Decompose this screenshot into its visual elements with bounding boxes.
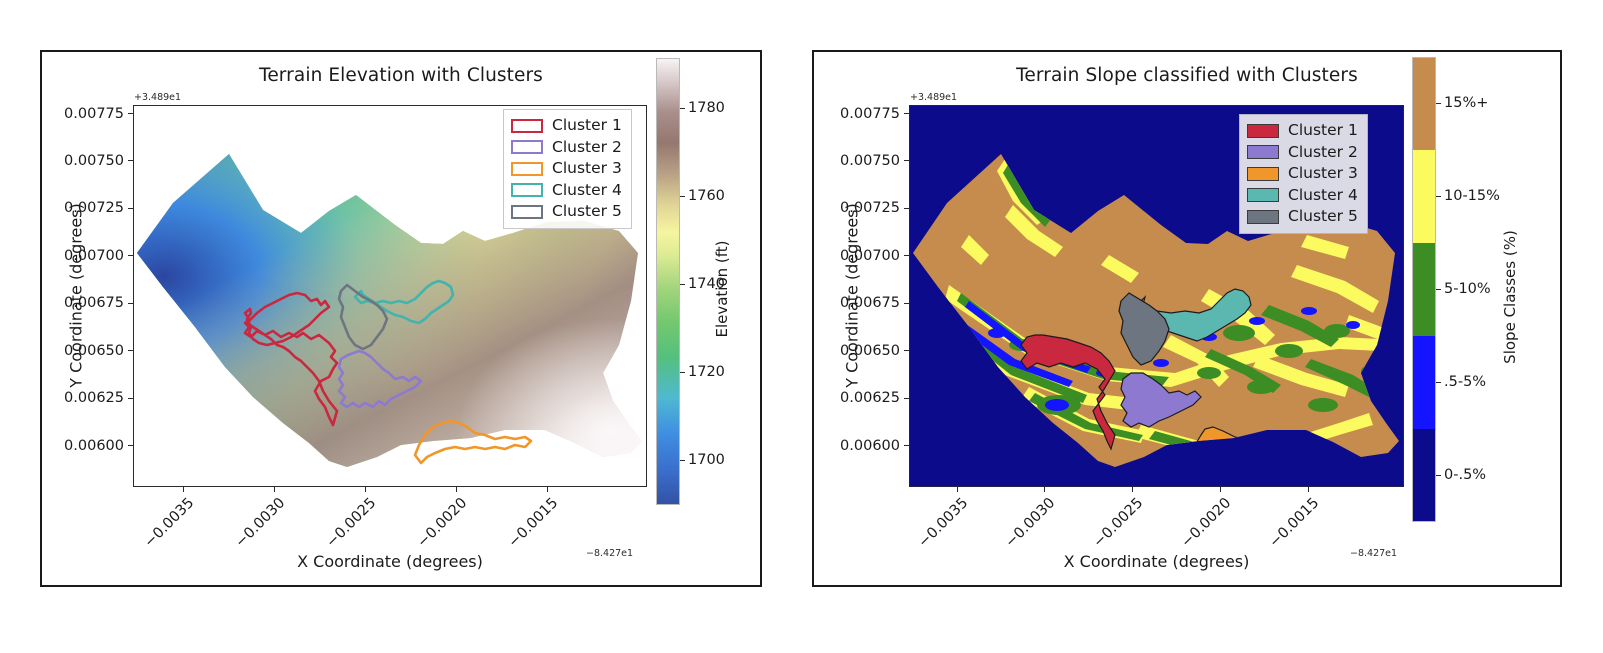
legend-item-cluster-5[interactable]: Cluster 5 [1247,206,1358,228]
x-axis-offset-text-right: −8.427e1 [1350,548,1397,559]
colorbar-slope[interactable] [1412,57,1436,522]
legend-clusters-elevation[interactable]: Cluster 1 Cluster 2 Cluster 3 Cluster 4 … [503,109,632,229]
legend-item-cluster-2[interactable]: Cluster 2 [1247,142,1358,164]
cluster-4-swatch-icon [1247,188,1279,202]
cluster-2-swatch-icon [511,140,543,154]
legend-item-cluster-1[interactable]: Cluster 1 [1247,120,1358,142]
legend-label: Cluster 1 [1288,123,1358,139]
legend-label: Cluster 3 [1288,166,1358,182]
cluster-2-swatch-icon [1247,145,1279,159]
colorbar-elevation[interactable] [656,58,680,505]
colorbar-border [656,58,680,505]
y-axis-label: Y Coordinate (degrees) [67,166,86,426]
legend-label: Cluster 2 [552,140,622,156]
figure-panel-left: Terrain Elevation with Clusters +3.489e1 [40,50,762,587]
y-axis-offset-text: +3.489e1 [134,92,181,103]
legend-item-cluster-2[interactable]: Cluster 2 [511,137,622,159]
page-title-right: Terrain Slope classified with Clusters [814,65,1560,86]
colorbar-border-right [1412,57,1436,522]
colorbar-label-elevation: Elevation (ft) [713,204,731,374]
legend-item-cluster-3[interactable]: Cluster 3 [511,158,622,180]
legend-label: Cluster 3 [552,161,622,177]
cluster-4-swatch-icon [511,183,543,197]
figure-panel-right: Terrain Slope classified with Clusters +… [812,50,1562,587]
page-title: Terrain Elevation with Clusters [42,65,760,86]
y-axis-label-right: Y Coordinate (degrees) [843,166,862,426]
legend-label: Cluster 4 [552,183,622,199]
cluster-3-swatch-icon [511,162,543,176]
legend-clusters-slope[interactable]: Cluster 1 Cluster 2 Cluster 3 Cluster 4 … [1239,114,1368,234]
legend-label: Cluster 5 [1288,209,1358,225]
legend-item-cluster-3[interactable]: Cluster 3 [1247,163,1358,185]
legend-label: Cluster 2 [1288,145,1358,161]
legend-label: Cluster 5 [552,204,622,220]
cluster-1-swatch-icon [511,119,543,133]
legend-label: Cluster 4 [1288,188,1358,204]
legend-item-cluster-4[interactable]: Cluster 4 [511,180,622,202]
cluster-5-swatch-icon [1247,210,1279,224]
colorbar-label-slope: Slope Classes (%) [1501,202,1519,392]
legend-item-cluster-4[interactable]: Cluster 4 [1247,185,1358,207]
legend-label: Cluster 1 [552,118,622,134]
cluster-1-swatch-icon [1247,124,1279,138]
y-axis-offset-text-right: +3.489e1 [910,92,957,103]
cluster-3-swatch-icon [1247,167,1279,181]
legend-item-cluster-5[interactable]: Cluster 5 [511,201,622,223]
x-axis-label: X Coordinate (degrees) [133,552,647,571]
cluster-5-swatch-icon [511,205,543,219]
legend-item-cluster-1[interactable]: Cluster 1 [511,115,622,137]
x-axis-offset-text: −8.427e1 [586,548,633,559]
x-axis-label-right: X Coordinate (degrees) [909,552,1404,571]
